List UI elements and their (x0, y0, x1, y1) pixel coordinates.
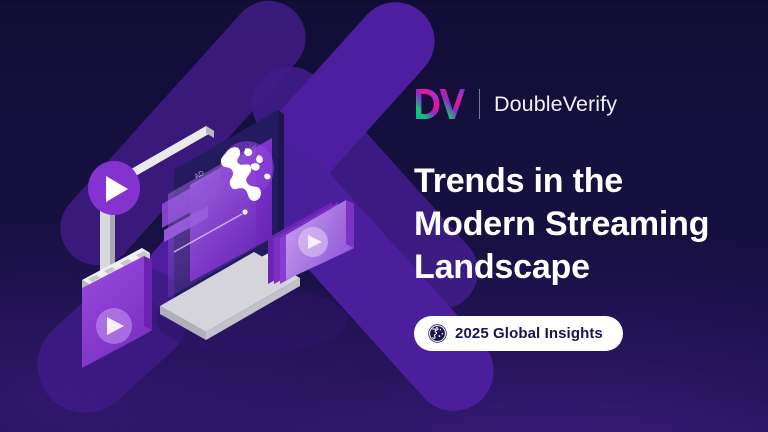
card-play-button (298, 227, 328, 257)
page-title-line-3: Landscape (414, 246, 734, 289)
page-title: Trends in the Modern Streaming Landscape (414, 160, 734, 290)
screen-progress-dot (242, 209, 247, 214)
clapperboard-play-button (96, 308, 132, 344)
globe-icon (428, 324, 447, 343)
page-title-line-2: Modern Streaming (414, 203, 734, 246)
slide-canvas: AD (0, 0, 768, 432)
brand-wordmark: DoubleVerify (494, 92, 617, 117)
brand-divider (479, 89, 480, 119)
page-title-line-1: Trends in the (414, 160, 734, 203)
clapperboard-card (82, 248, 152, 368)
brand-lockup: DoubleVerify (414, 84, 734, 124)
status-badge: 2025 Global Insights (414, 316, 623, 351)
doubleverify-dv-monogram-icon (414, 87, 466, 121)
play-button-circle (88, 161, 140, 215)
isometric-streaming-devices-illustration: AD (56, 52, 396, 392)
slide-content: DoubleVerify Trends in the Modern Stream… (414, 84, 734, 351)
status-badge-label: 2025 Global Insights (455, 325, 603, 342)
